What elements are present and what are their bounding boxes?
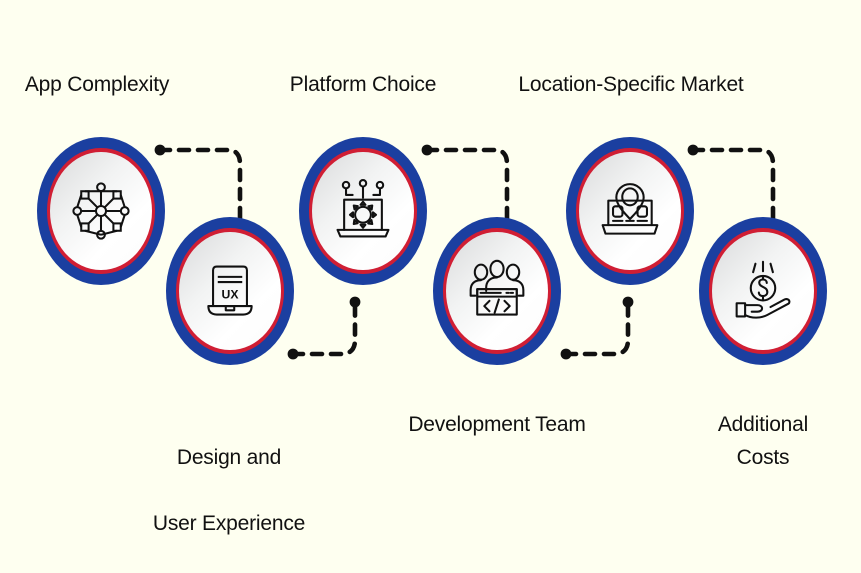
badge-red-ring — [47, 148, 155, 273]
connector-2-to-3 — [283, 292, 423, 364]
badge-red-ring — [576, 148, 684, 273]
badge-red-ring — [443, 228, 551, 353]
badge-red-ring — [309, 148, 417, 273]
hand-holding-coin-icon — [731, 259, 795, 323]
badge-inner-face — [50, 152, 152, 271]
label-additional-costs: Additional Costs — [714, 408, 812, 474]
badge-red-ring — [709, 228, 817, 353]
badge-inner-face — [312, 152, 414, 271]
label-design-and-user-experience: Design and User Experience — [153, 408, 305, 573]
label-app-complexity: App Complexity — [25, 68, 169, 101]
connector-4-to-5 — [556, 292, 696, 364]
ux-laptop-icon: UX — [198, 259, 262, 323]
node-badge-development-team[interactable] — [433, 217, 561, 365]
label-platform-choice: Platform Choice — [290, 68, 436, 101]
dev-team-code-icon — [465, 259, 529, 323]
badge-outer-ring — [699, 217, 827, 365]
network-graph-icon — [70, 180, 132, 242]
badge-inner-face: UX — [179, 232, 281, 351]
badge-outer-ring — [37, 137, 165, 285]
label-location-specific-market: Location-Specific Market — [518, 68, 743, 101]
badge-red-ring: UX — [176, 228, 284, 353]
badge-inner-face — [579, 152, 681, 271]
badge-outer-ring: UX — [166, 217, 294, 365]
badge-outer-ring — [566, 137, 694, 285]
node-badge-design-ux[interactable]: UX — [166, 217, 294, 365]
ux-icon-text: UX — [221, 288, 239, 302]
badge-inner-face — [712, 232, 814, 351]
label-line-2: User Experience — [153, 507, 305, 540]
laptop-gear-circuit-icon — [330, 178, 396, 244]
node-badge-location-market[interactable] — [566, 137, 694, 285]
location-pin-laptop-icon — [597, 178, 663, 244]
infographic-canvas: App Complexity Platform Choice Location-… — [0, 0, 861, 544]
node-badge-platform-choice[interactable] — [299, 137, 427, 285]
node-badge-app-complexity[interactable] — [37, 137, 165, 285]
node-badge-additional-costs[interactable] — [699, 217, 827, 365]
label-development-team: Development Team — [408, 408, 585, 441]
badge-outer-ring — [433, 217, 561, 365]
label-line-1: Design and — [153, 441, 305, 474]
badge-outer-ring — [299, 137, 427, 285]
badge-inner-face — [446, 232, 548, 351]
